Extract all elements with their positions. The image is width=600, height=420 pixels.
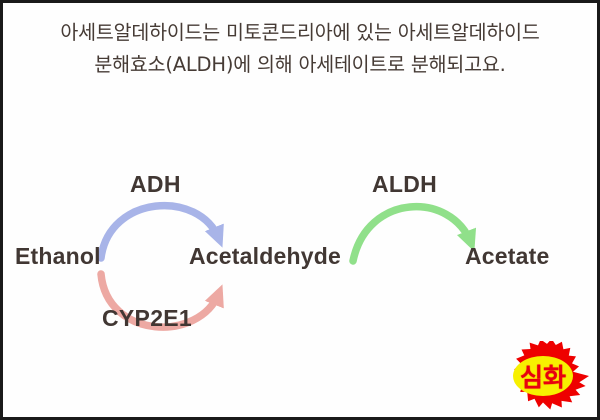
caption-line-2: 분해효소(ALDH)에 의해 아세테이트로 분해되고요.: [3, 49, 597, 81]
node-acetaldehyde: Acetaldehyde: [189, 243, 341, 270]
metabolic-pathway-diagram: Ethanol Acetaldehyde Acetate ADH CYP2E1 …: [3, 143, 600, 363]
caption-text: 아세트알데하이드는 미토콘드리아에 있는 아세트알데하이드 분해효소(ALDH)…: [3, 17, 597, 80]
enzyme-label-cyp2e1: CYP2E1: [102, 305, 192, 332]
enzyme-label-aldh: ALDH: [372, 171, 437, 198]
caption-line-1: 아세트알데하이드는 미토콘드리아에 있는 아세트알데하이드: [3, 17, 597, 49]
arrow-aldh: [353, 207, 471, 261]
slide-card: 아세트알데하이드는 미토콘드리아에 있는 아세트알데하이드 분해효소(ALDH)…: [0, 0, 600, 420]
node-ethanol: Ethanol: [15, 243, 101, 270]
starburst-icon: [495, 341, 591, 411]
starburst-badge: 심화: [495, 341, 591, 411]
node-acetate: Acetate: [465, 243, 550, 270]
enzyme-label-adh: ADH: [130, 171, 181, 198]
